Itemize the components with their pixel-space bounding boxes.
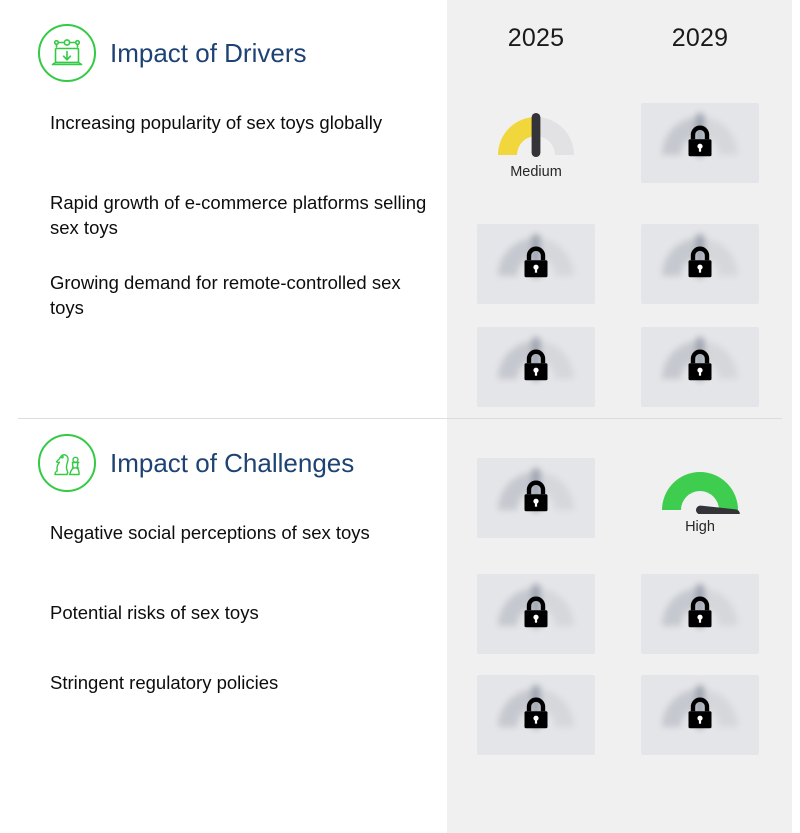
lock-icon bbox=[519, 243, 553, 283]
gauge-label-medium: Medium bbox=[477, 164, 595, 180]
impact-matrix-slide: 2025 2029 Impact of Drivers Increasing p… bbox=[0, 0, 800, 833]
row-label-challenges-1: Negative social perceptions of sex toys bbox=[50, 520, 430, 545]
section-title-drivers: Impact of Drivers bbox=[110, 38, 307, 69]
section-title-challenges: Impact of Challenges bbox=[110, 448, 354, 479]
locked-cell-drivers-2-2029[interactable] bbox=[641, 224, 759, 304]
lock-icon bbox=[683, 346, 717, 386]
gauge-cell-challenges-1-2029[interactable]: High bbox=[641, 458, 759, 538]
gauge-cell-drivers-1-2025[interactable]: Medium bbox=[477, 103, 595, 183]
locked-cell-drivers-2-2025[interactable] bbox=[477, 224, 595, 304]
lock-icon bbox=[683, 593, 717, 633]
gauge-medium-graphic bbox=[493, 107, 579, 159]
column-header-2029: 2029 bbox=[641, 24, 759, 58]
locked-cell-challenges-2-2029[interactable] bbox=[641, 574, 759, 654]
lock-icon bbox=[683, 694, 717, 734]
column-header-2025: 2025 bbox=[477, 24, 595, 58]
section-divider bbox=[18, 418, 782, 419]
locked-cell-drivers-1-2029[interactable] bbox=[641, 103, 759, 183]
lock-icon bbox=[683, 122, 717, 162]
laptop-download-drivers-icon bbox=[38, 24, 96, 82]
locked-cell-drivers-3-2029[interactable] bbox=[641, 327, 759, 407]
section-header-challenges: Impact of Challenges bbox=[38, 434, 354, 492]
gauge-high-graphic bbox=[657, 462, 743, 514]
lock-icon bbox=[519, 694, 553, 734]
locked-cell-challenges-2-2025[interactable] bbox=[477, 574, 595, 654]
locked-cell-challenges-3-2025[interactable] bbox=[477, 675, 595, 755]
section-header-drivers: Impact of Drivers bbox=[38, 24, 307, 82]
locked-cell-drivers-3-2025[interactable] bbox=[477, 327, 595, 407]
lock-icon bbox=[683, 243, 717, 283]
lock-icon bbox=[519, 593, 553, 633]
gauge-label-high: High bbox=[641, 519, 759, 535]
row-label-drivers-3: Growing demand for remote-controlled sex… bbox=[50, 270, 430, 320]
chess-pieces-challenges-icon bbox=[38, 434, 96, 492]
row-label-drivers-2: Rapid growth of e-commerce platforms sel… bbox=[50, 190, 430, 240]
locked-cell-challenges-3-2029[interactable] bbox=[641, 675, 759, 755]
row-label-challenges-2: Potential risks of sex toys bbox=[50, 600, 430, 625]
lock-icon bbox=[519, 477, 553, 517]
lock-icon bbox=[519, 346, 553, 386]
locked-cell-challenges-1-2025[interactable] bbox=[477, 458, 595, 538]
row-label-challenges-3: Stringent regulatory policies bbox=[50, 670, 430, 695]
row-label-drivers-1: Increasing popularity of sex toys global… bbox=[50, 110, 430, 135]
